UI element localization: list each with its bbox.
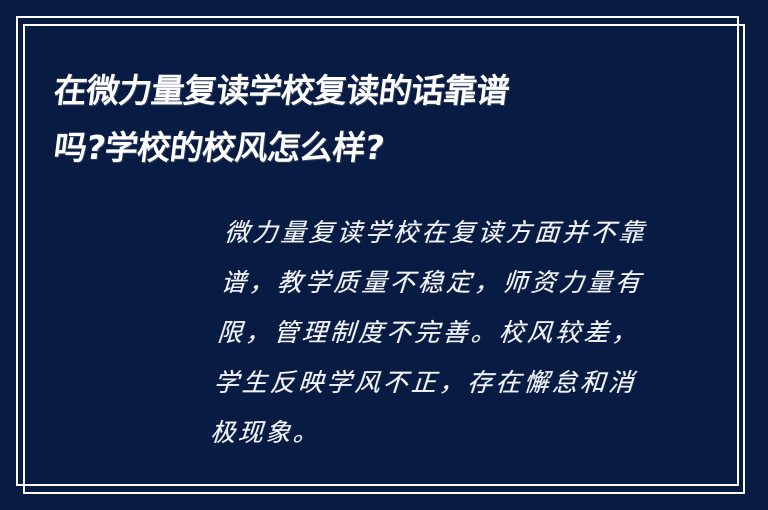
body-paragraph: 微力量复读学校在复读方面并不靠谱，教学质量不稳定，师资力量有限，管理制度不完善。… (209, 208, 648, 458)
body-paragraph-block: 微力量复读学校在复读方面并不靠谱，教学质量不稳定，师资力量有限，管理制度不完善。… (226, 208, 648, 458)
headline-line-1: 在微力量复读学校复读的话靠谱 (51, 62, 658, 119)
poster-canvas: 在微力量复读学校复读的话靠谱 吗?学校的校风怎么样? 微力量复读学校在复读方面并… (0, 0, 768, 510)
headline-block: 在微力量复读学校复读的话靠谱 吗?学校的校风怎么样? (54, 62, 654, 176)
headline-line-2: 吗?学校的校风怎么样? (51, 119, 658, 176)
